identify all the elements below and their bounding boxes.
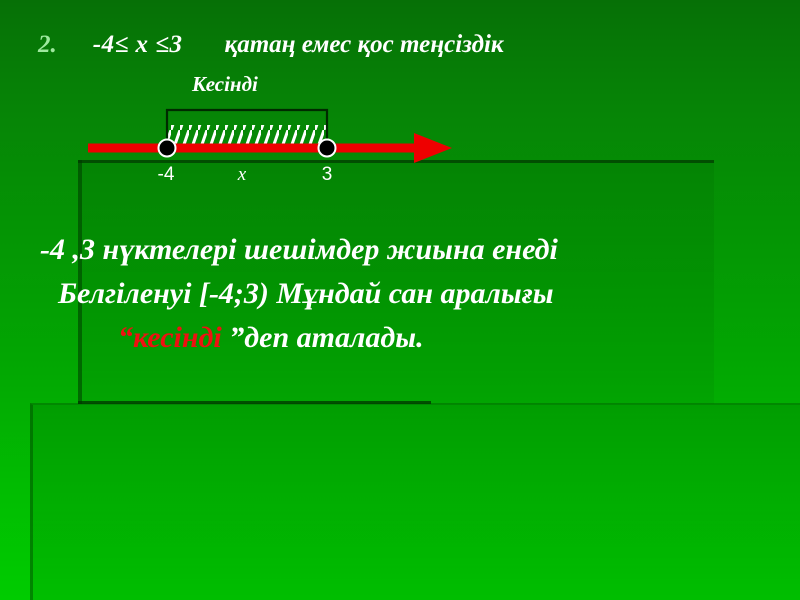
main-panel-top-border [78, 160, 714, 163]
axis-arrow-icon [414, 133, 452, 163]
quote-open: “ [118, 321, 133, 354]
header-line: 2.-4≤ x ≤3қатаң емес қос теңсіздік [38, 28, 758, 62]
right-endpoint-dot [319, 140, 336, 157]
inequality-description: қатаң емес қос теңсіздік [225, 31, 504, 58]
body-line-2: Белгіленуі [-4;3) Мұндай сан аралығы [40, 272, 740, 316]
body-text-block: -4 ,3 нүктелері шешімдер жиына енеді Бел… [40, 228, 740, 360]
solution-hatch-region [167, 125, 327, 151]
slide-canvas: 2.-4≤ x ≤3қатаң емес қос теңсіздік Кесін… [0, 0, 800, 600]
left-endpoint-dot [159, 140, 176, 157]
item-number: 2. [38, 31, 57, 58]
quote-close: ” [222, 321, 245, 354]
highlighted-term: кесінді [133, 321, 222, 354]
segment-bracket [167, 110, 327, 148]
body-line-3: “кесінді ”деп аталады. [40, 316, 740, 360]
inequality-expression: -4≤ x ≤3 [93, 31, 183, 58]
main-panel-bottom-border [78, 401, 431, 404]
lower-decorative-panel [30, 403, 800, 600]
body-line-1: -4 ,3 нүктелері шешімдер жиына енеді [40, 228, 740, 272]
segment-caption: Кесінді [192, 72, 258, 97]
body-line-3-rest: деп аталады. [244, 321, 423, 354]
